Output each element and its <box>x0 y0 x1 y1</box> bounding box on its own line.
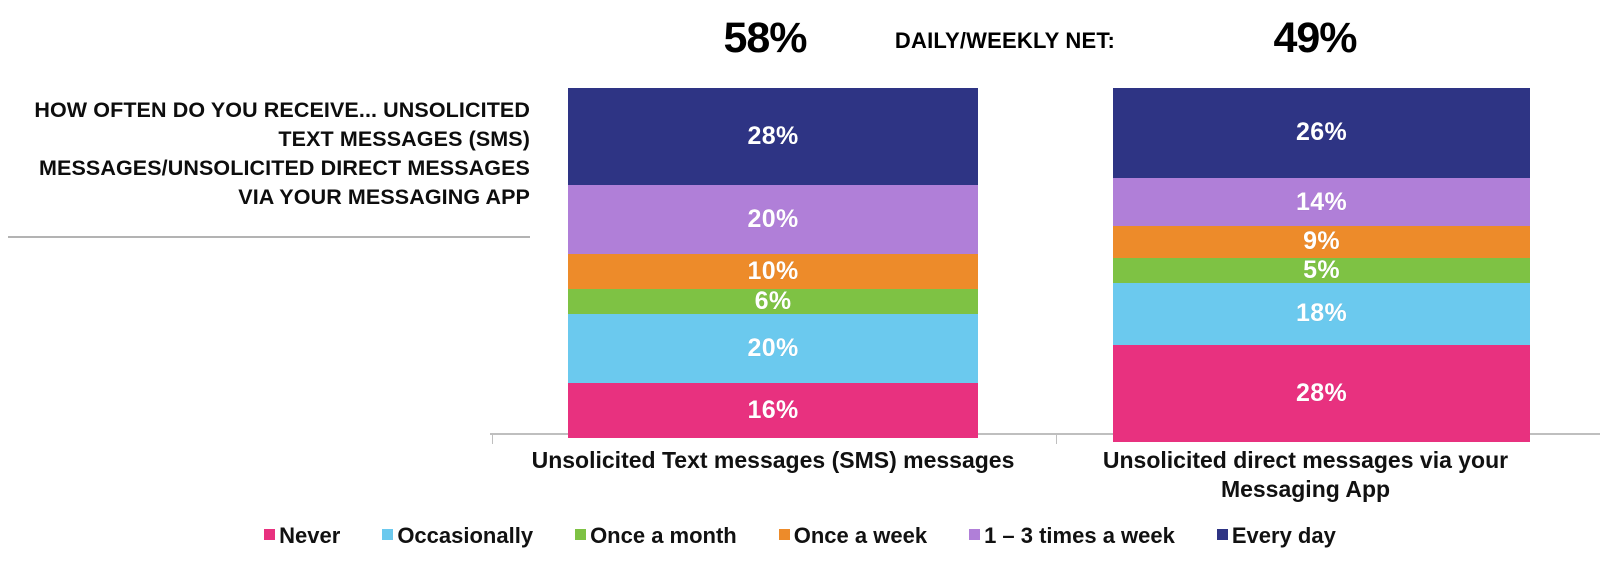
bar-segment-value-label: 26% <box>1296 120 1347 145</box>
bar-segment-value-label: 18% <box>1296 301 1347 326</box>
legend-swatch-icon <box>575 529 586 540</box>
legend-swatch-icon <box>264 529 275 540</box>
legend-swatch-icon <box>382 529 393 540</box>
category-label-1: Unsolicited direct messages via your Mes… <box>1058 446 1553 504</box>
stacked-bar-category-1[interactable]: 26%14%9%5%18%28% <box>1113 88 1530 434</box>
chart-legend: NeverOccasionallyOnce a monthOnce a week… <box>0 524 1600 548</box>
bar-segment-value-label: 10% <box>748 259 799 284</box>
legend-swatch-icon <box>969 529 980 540</box>
bar-segment-value-label: 28% <box>1296 381 1347 406</box>
chart-plot-area: 28%20%10%6%20%16% 26%14%9%5%18%28% Unsol… <box>0 0 1600 582</box>
legend-item-never[interactable]: Never <box>264 524 340 548</box>
legend-item-once-a-week[interactable]: Once a week <box>779 524 927 548</box>
legend-item-1-3-times-a-week[interactable]: 1 – 3 times a week <box>969 524 1175 548</box>
bar-segment-once-a-month[interactable]: 5% <box>1113 258 1530 283</box>
bar-segment-value-label: 9% <box>1303 229 1340 254</box>
legend-label: Once a week <box>794 524 927 548</box>
legend-swatch-icon <box>1217 529 1228 540</box>
legend-label: Occasionally <box>397 524 533 548</box>
bar-segment-once-a-month[interactable]: 6% <box>568 289 978 314</box>
bar-segment-occasionally[interactable]: 18% <box>1113 283 1530 345</box>
axis-tick-middle <box>1056 435 1057 444</box>
legend-swatch-icon <box>779 529 790 540</box>
bar-segment-value-label: 20% <box>748 207 799 232</box>
bar-segment-occasionally[interactable]: 20% <box>568 314 978 383</box>
legend-item-every-day[interactable]: Every day <box>1217 524 1336 548</box>
legend-item-occasionally[interactable]: Occasionally <box>382 524 533 548</box>
category-label-0: Unsolicited Text messages (SMS) messages <box>492 446 1054 475</box>
bar-segment-every-day[interactable]: 28% <box>568 88 978 185</box>
legend-label: 1 – 3 times a week <box>984 524 1175 548</box>
bar-segment-once-a-week[interactable]: 9% <box>1113 226 1530 257</box>
axis-tick-start <box>492 435 493 444</box>
bar-segment-value-label: 16% <box>748 398 799 423</box>
bar-segment-value-label: 20% <box>748 336 799 361</box>
bar-segment-value-label: 5% <box>1303 258 1340 283</box>
bar-segment-value-label: 14% <box>1296 190 1347 215</box>
bar-segment-every-day[interactable]: 26% <box>1113 88 1530 178</box>
bar-segment-never[interactable]: 28% <box>1113 345 1530 442</box>
legend-label: Never <box>279 524 340 548</box>
bar-segment-1-3-times-a-week[interactable]: 14% <box>1113 178 1530 226</box>
bar-segment-value-label: 6% <box>755 289 792 314</box>
stacked-bar-category-0[interactable]: 28%20%10%6%20%16% <box>568 88 978 434</box>
bar-segment-1-3-times-a-week[interactable]: 20% <box>568 185 978 254</box>
legend-label: Every day <box>1232 524 1336 548</box>
bar-segment-never[interactable]: 16% <box>568 383 978 438</box>
bar-segment-once-a-week[interactable]: 10% <box>568 254 978 289</box>
legend-label: Once a month <box>590 524 737 548</box>
bar-segment-value-label: 28% <box>748 124 799 149</box>
legend-item-once-a-month[interactable]: Once a month <box>575 524 737 548</box>
